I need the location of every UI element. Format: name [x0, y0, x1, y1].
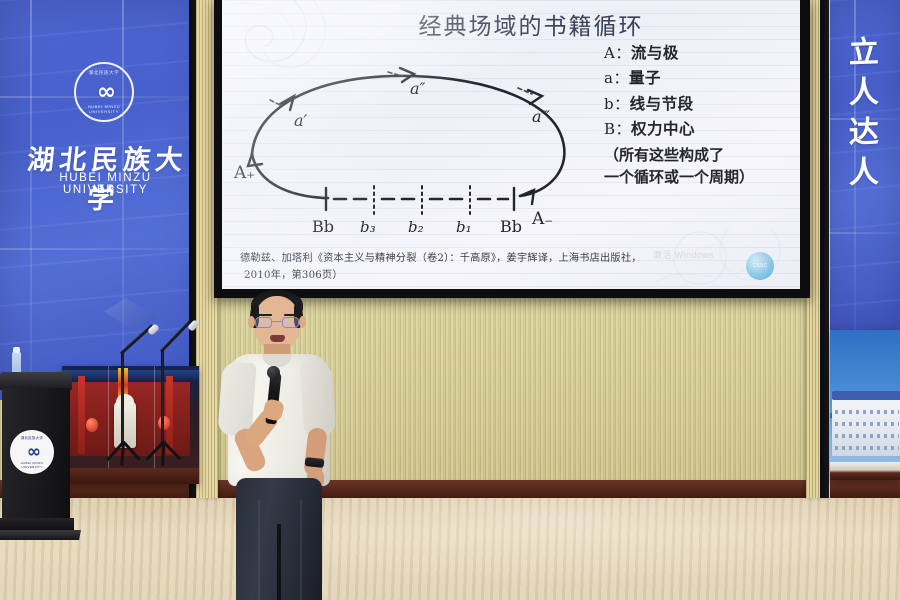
diagram-label-a1: a′	[294, 111, 308, 130]
lecture-hall-scene: 湖北民族大学 ∞ HUBEI MINZU UNIVERSITY 湖北民族大学 H…	[0, 0, 900, 600]
campus-building	[832, 398, 900, 456]
slide-title: 经典场域的书籍循环	[222, 7, 800, 41]
legend-value: 线与节段	[630, 94, 694, 113]
diagram-label-b2: b₂	[408, 218, 424, 232]
poster-campus-building	[830, 330, 900, 480]
podium-foot	[0, 530, 81, 540]
tripod-leg	[162, 441, 180, 460]
poster-base-strip	[62, 468, 199, 484]
poster-base-strip	[830, 462, 900, 480]
eyeglasses-icon	[254, 317, 300, 328]
legend-value: 权力中心	[631, 119, 695, 138]
citation-line-1: 德勒兹、加塔利《资本主义与精神分裂（卷2）：千高原》，姜宇辉译，上海书店出版社，	[240, 251, 790, 268]
building-window-row	[835, 446, 899, 450]
legend-note-line-2: 一个循环或一个周期）	[604, 167, 800, 189]
podium-university-logo-icon: 湖北民族大学 ∞ HUBEI MINZU UNIVERSITY	[10, 430, 54, 474]
legend-row: B：权力中心	[604, 116, 800, 141]
slide-citation: 德勒兹、加塔利《资本主义与精神分裂（卷2）：千高原》，姜宇辉译，上海书店出版社，…	[240, 251, 790, 284]
gate-column	[78, 376, 85, 454]
diagram-label-Aminus: A₋	[531, 209, 553, 229]
diagram-label-Bb-right: Bb	[500, 217, 522, 232]
wall-shadow-gap	[820, 0, 829, 498]
building-window-row	[835, 422, 899, 426]
legend-value: 量子	[629, 68, 661, 87]
mic-stand-pole	[121, 352, 124, 444]
diagram-label-b1: b₁	[456, 218, 472, 232]
logo-ring-top-text: 湖北民族大学	[11, 435, 53, 440]
microphone-stand-2[interactable]	[128, 330, 198, 460]
tripod-leg	[120, 442, 124, 466]
legend-key: B：	[604, 120, 631, 138]
diagram-label-Bb-left: Bb	[312, 217, 334, 232]
logo-ring-bottom-text: HUBEI MINZU UNIVERSITY	[76, 104, 132, 114]
presenter-ear	[299, 316, 306, 328]
legend-key: b：	[604, 95, 630, 113]
presenter-mouth	[270, 335, 285, 342]
legend-value: 流与极	[631, 43, 679, 62]
university-logo-icon: 湖北民族大学 ∞ HUBEI MINZU UNIVERSITY	[74, 62, 134, 122]
handdrawn-cycle-diagram: a′ a″ a‴ A₊ A₋ Bb b₃ b₂ b₁ Bb	[232, 42, 598, 232]
glasses-lens	[255, 317, 272, 328]
mic-stand-tripod	[131, 442, 193, 466]
trouser-crease	[258, 500, 260, 600]
legend-key: a：	[604, 69, 629, 87]
trouser-crease	[300, 500, 302, 600]
citation-line-2: 2010年，第306页）	[240, 268, 790, 285]
university-name-en: HUBEI MINZU UNIVERSITY	[18, 172, 193, 196]
presenter	[214, 288, 344, 600]
floor-light-reflection	[0, 498, 900, 600]
legend-note-line-1: （所有这些构成了	[604, 145, 800, 167]
banner-crease	[0, 248, 206, 250]
legend-row: a：量子	[604, 65, 800, 90]
diagram-label-Aplus: A₊	[233, 163, 255, 183]
water-bottle[interactable]	[12, 352, 21, 374]
glasses-lens	[282, 317, 299, 328]
diagram-label-a3: a‴	[532, 107, 551, 126]
tripod-leg	[161, 442, 164, 466]
building-window-row	[835, 410, 899, 414]
diagram-label-a2: a″	[410, 79, 426, 98]
building-roof	[832, 391, 900, 400]
trouser-leg-split	[277, 524, 281, 600]
banner-crease	[828, 232, 900, 234]
legend-row: A：流与极	[604, 40, 800, 65]
logo-mark: ∞	[27, 444, 37, 461]
handheld-microphone-head-icon	[267, 366, 280, 379]
legend-row: b：线与节段	[604, 91, 800, 116]
logo-mark: ∞	[97, 81, 111, 104]
mic-stand-pole	[161, 350, 164, 444]
legend-key: A：	[604, 44, 631, 62]
glasses-bridge	[272, 321, 282, 322]
banner-right-motto: 立人达人	[840, 35, 880, 196]
tshirt-sleeve-right	[299, 361, 336, 437]
logo-ring-top-text: 湖北民族大学	[76, 70, 132, 76]
projection-screen[interactable]: 激活 Windows CSSC 经典场域的书籍循环	[222, 0, 800, 289]
building-window-row	[835, 434, 899, 438]
cycle-diagram-svg: a′ a″ a‴ A₊ A₋ Bb b₃ b₂ b₁ Bb	[232, 42, 598, 232]
logo-ring-bottom-text: HUBEI MINZU UNIVERSITY	[11, 461, 53, 469]
wristwatch	[305, 457, 325, 468]
lectern-podium[interactable]: 湖北民族大学 ∞ HUBEI MINZU UNIVERSITY	[0, 372, 72, 548]
banner-right: 立人达人	[828, 0, 900, 330]
slide-legend: A：流与极 a：量子 b：线与节段 B：权力中心 （所有这些构成了 一个循环或一…	[604, 40, 800, 189]
diagram-label-b3: b₃	[360, 218, 376, 232]
